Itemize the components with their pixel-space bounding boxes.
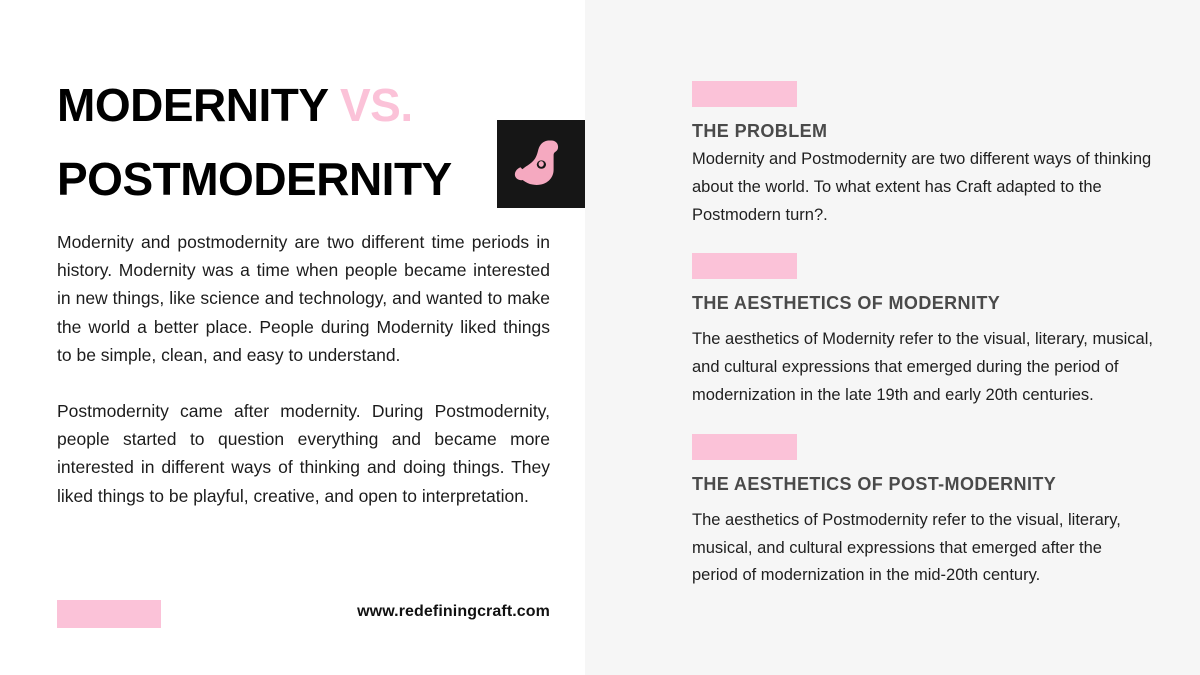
- title-line-2: POSTMODERNITY: [57, 142, 477, 216]
- section-body: Modernity and Postmodernity are two diff…: [692, 146, 1162, 229]
- page-title: MODERNITY VS. POSTMODERNITY: [57, 68, 477, 216]
- left-body-text: Modernity and postmodernity are two diff…: [57, 228, 550, 510]
- website-url[interactable]: www.redefiningcraft.com: [357, 603, 550, 621]
- left-footer: www.redefiningcraft.com: [57, 600, 550, 630]
- elephant-logo-icon: [510, 133, 572, 195]
- section-body: The aesthetics of Modernity refer to the…: [692, 326, 1162, 409]
- section-the-problem: THE PROBLEM Modernity and Postmodernity …: [692, 81, 1170, 229]
- section-body: The aesthetics of Postmodernity refer to…: [692, 507, 1142, 590]
- section-title: THE AESTHETICS OF MODERNITY: [692, 293, 1170, 314]
- brand-logo: [497, 120, 585, 208]
- section-accent-bar: [692, 253, 797, 279]
- slide-root: MODERNITY VS. POSTMODERNITY Modernity an…: [0, 0, 1200, 675]
- section-title: THE AESTHETICS OF POST-MODERNITY: [692, 474, 1170, 495]
- footer-accent-bar: [57, 600, 161, 628]
- section-title: THE PROBLEM: [692, 121, 1170, 142]
- title-main-word: MODERNITY: [57, 79, 328, 131]
- section-aesthetics-of-modernity: THE AESTHETICS OF MODERNITY The aestheti…: [692, 253, 1170, 409]
- right-panel: THE PROBLEM Modernity and Postmodernity …: [585, 0, 1200, 675]
- left-panel: MODERNITY VS. POSTMODERNITY Modernity an…: [0, 0, 585, 675]
- left-paragraph-2: Postmodernity came after modernity. Duri…: [57, 397, 550, 510]
- section-accent-bar: [692, 81, 797, 107]
- section-accent-bar: [692, 434, 797, 460]
- title-accent-word: VS.: [340, 79, 413, 131]
- title-line-1: MODERNITY VS.: [57, 68, 477, 142]
- section-aesthetics-of-post-modernity: THE AESTHETICS OF POST-MODERNITY The aes…: [692, 434, 1170, 590]
- left-paragraph-1: Modernity and postmodernity are two diff…: [57, 228, 550, 369]
